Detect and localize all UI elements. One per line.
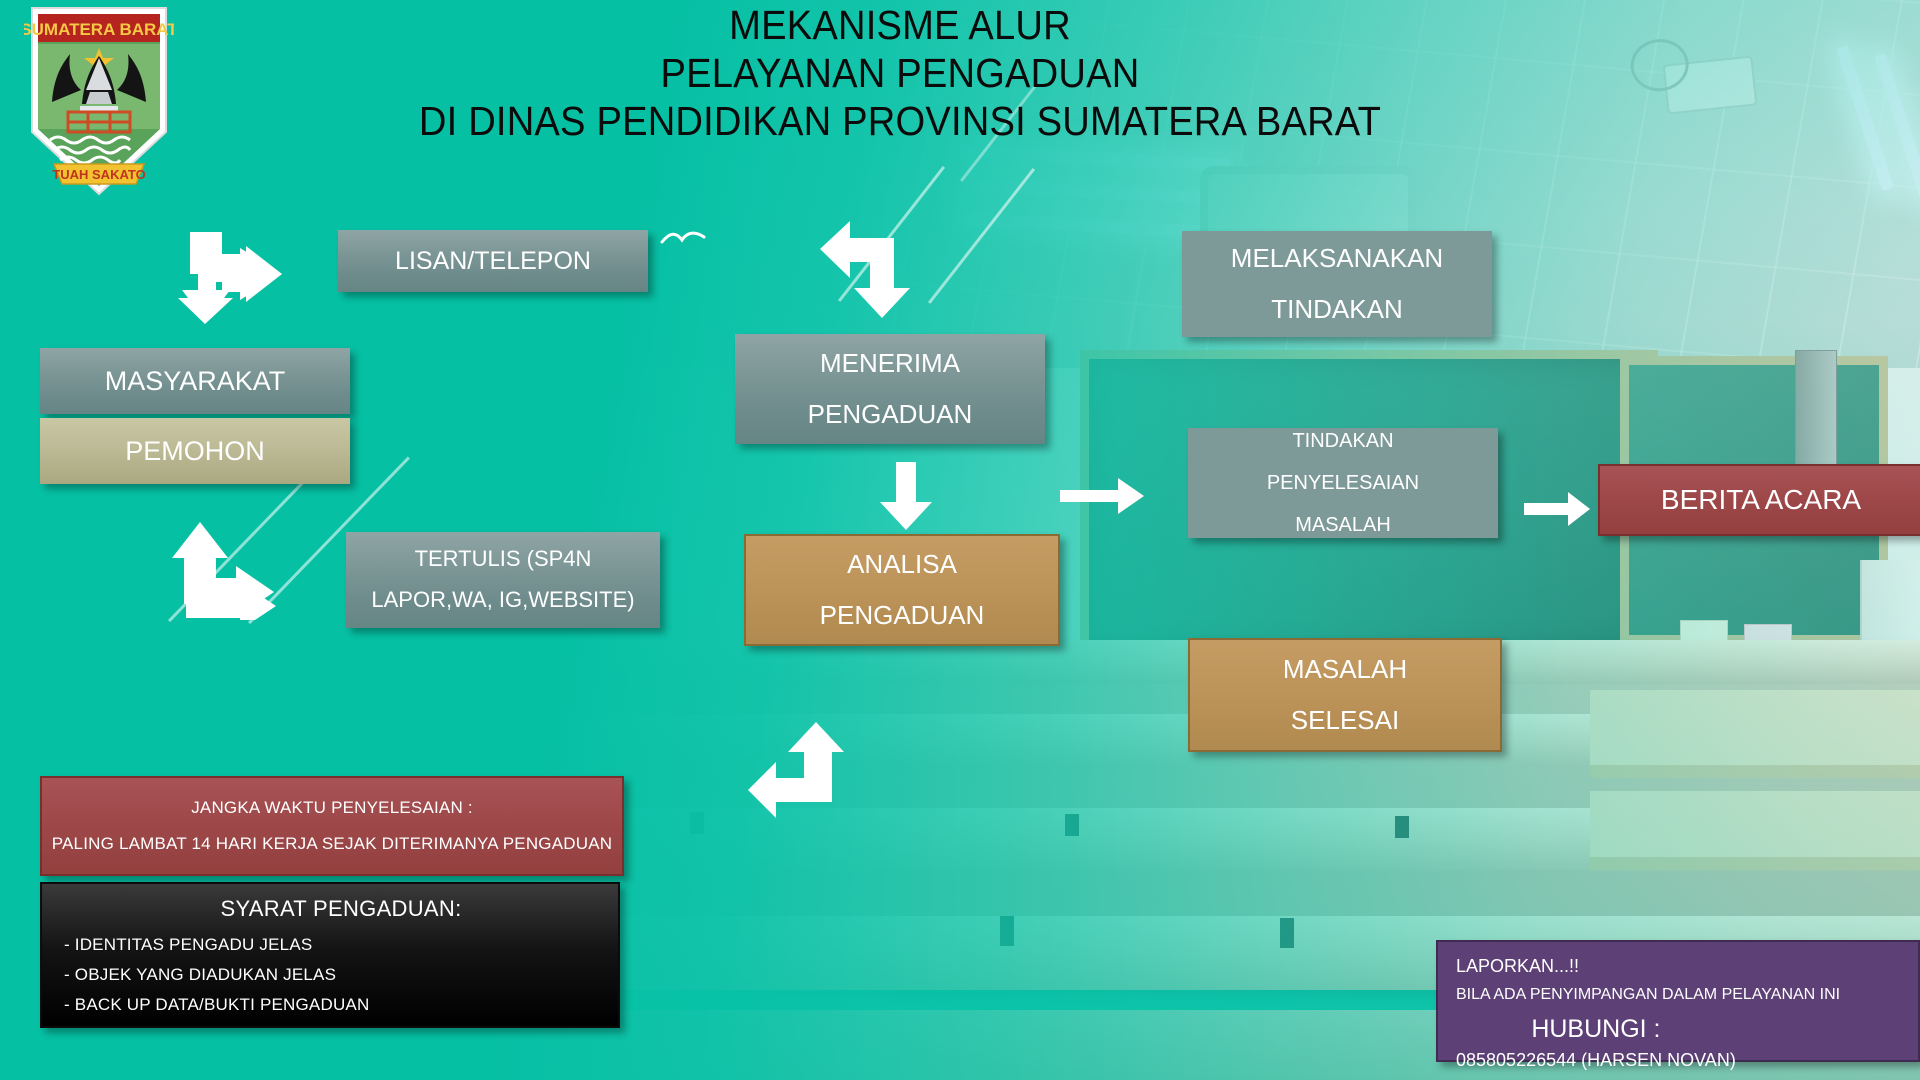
box-lisan-telepon[interactable]: LISAN/TELEPON — [338, 230, 648, 292]
box-analisa-line-1: ANALISA — [847, 539, 957, 590]
box-melaksanakan-tindakan[interactable]: MELAKSANAKAN TINDAKAN — [1182, 231, 1492, 337]
contact-line-2: BILA ADA PENYIMPANGAN DALAM PELAYANAN IN… — [1456, 986, 1840, 1004]
arrow-right-icon — [1524, 492, 1590, 526]
arrow-up-right-icon — [170, 520, 285, 620]
box-menerima-pengaduan[interactable]: MENERIMA PENGADUAN — [735, 334, 1045, 444]
syarat-item: - BACK UP DATA/BUKTI PENGADUAN — [64, 995, 369, 1015]
box-masalah-line-1: MASALAH — [1283, 644, 1407, 695]
arrow-down-icon — [878, 462, 934, 530]
box-masyarakat-label: MASYARAKAT — [105, 366, 286, 397]
box-berita-acara[interactable]: BERITA ACARA — [1598, 464, 1920, 536]
title-line-2: PELAYANAN PENGADUAN — [342, 50, 1458, 98]
title-line-3: DI DINAS PENDIDIKAN PROVINSI SUMATERA BA… — [342, 98, 1458, 146]
box-tindakan-line-1: TINDAKAN — [1292, 420, 1393, 462]
box-lisan-telepon-label: LISAN/TELEPON — [395, 247, 591, 276]
box-menerima-line-2: PENGADUAN — [808, 389, 973, 440]
arrow-right-icon — [1060, 478, 1144, 514]
jangka-line-2: PALING LAMBAT 14 HARI KERJA SEJAK DITERI… — [52, 826, 613, 862]
page-title: MEKANISME ALUR PELAYANAN PENGADUAN DI DI… — [342, 2, 1458, 146]
box-tertulis[interactable]: TERTULIS (SP4N LAPOR,WA, IG,WEBSITE) — [346, 532, 660, 628]
panel-jangka-waktu: JANGKA WAKTU PENYELESAIAN : PALING LAMBA… — [40, 776, 624, 876]
box-masalah-line-2: SELESAI — [1291, 695, 1399, 746]
arrow-down-right-icon — [178, 232, 288, 324]
box-pemohon-label: PEMOHON — [125, 436, 265, 467]
logo-ribbon-text: TUAH SAKATO — [52, 167, 145, 182]
contact-line-1: LAPORKAN...!! — [1456, 956, 1579, 977]
contact-value: 085805226544 (HARSEN NOVAN) — [1456, 1050, 1736, 1070]
box-analisa-pengaduan[interactable]: ANALISA PENGADUAN — [744, 534, 1060, 646]
syarat-item: - OBJEK YANG DIADUKAN JELAS — [64, 965, 336, 985]
box-tindakan-line-3: MASALAH — [1295, 504, 1391, 546]
box-melaksanakan-line-1: MELAKSANAKAN — [1231, 233, 1443, 284]
contact-hubungi: HUBUNGI : 085805226544 (HARSEN NOVAN) — [1456, 1015, 1736, 1073]
box-masalah-selesai[interactable]: MASALAH SELESAI — [1188, 638, 1502, 752]
slide-canvas: SUMATERA BARAT TUAH SAKATO MEKANISME ALU… — [0, 0, 1920, 1080]
arrow-left-down-icon — [820, 216, 920, 320]
title-line-1: MEKANISME ALUR — [342, 2, 1458, 50]
seagull-icon — [660, 228, 706, 254]
box-menerima-line-1: MENERIMA — [820, 338, 960, 389]
panel-contact: LAPORKAN...!! BILA ADA PENYIMPANGAN DALA… — [1436, 940, 1920, 1062]
panel-syarat-pengaduan: SYARAT PENGADUAN: - IDENTITAS PENGADU JE… — [40, 882, 620, 1028]
arrow-up-left-icon — [748, 718, 848, 824]
box-masyarakat[interactable]: MASYARAKAT — [40, 348, 350, 414]
box-tindakan-penyelesaian-masalah[interactable]: TINDAKAN PENYELESAIAN MASALAH — [1188, 428, 1498, 538]
coat-of-arms-logo: SUMATERA BARAT TUAH SAKATO — [24, 4, 174, 199]
box-tindakan-line-2: PENYELESAIAN — [1267, 462, 1419, 504]
box-pemohon[interactable]: PEMOHON — [40, 418, 350, 484]
box-berita-acara-label: BERITA ACARA — [1661, 484, 1861, 516]
contact-label: HUBUNGI : — [1456, 1015, 1736, 1044]
logo-banner-text: SUMATERA BARAT — [24, 20, 174, 39]
box-analisa-line-2: PENGADUAN — [820, 590, 985, 641]
jangka-line-1: JANGKA WAKTU PENYELESAIAN : — [191, 790, 473, 826]
syarat-heading: SYARAT PENGADUAN: — [220, 896, 461, 922]
box-tertulis-line-2: LAPOR,WA, IG,WEBSITE) — [371, 580, 634, 621]
syarat-item: - IDENTITAS PENGADU JELAS — [64, 935, 312, 955]
box-tertulis-line-1: TERTULIS (SP4N — [415, 539, 592, 580]
box-melaksanakan-line-2: TINDAKAN — [1271, 284, 1402, 335]
